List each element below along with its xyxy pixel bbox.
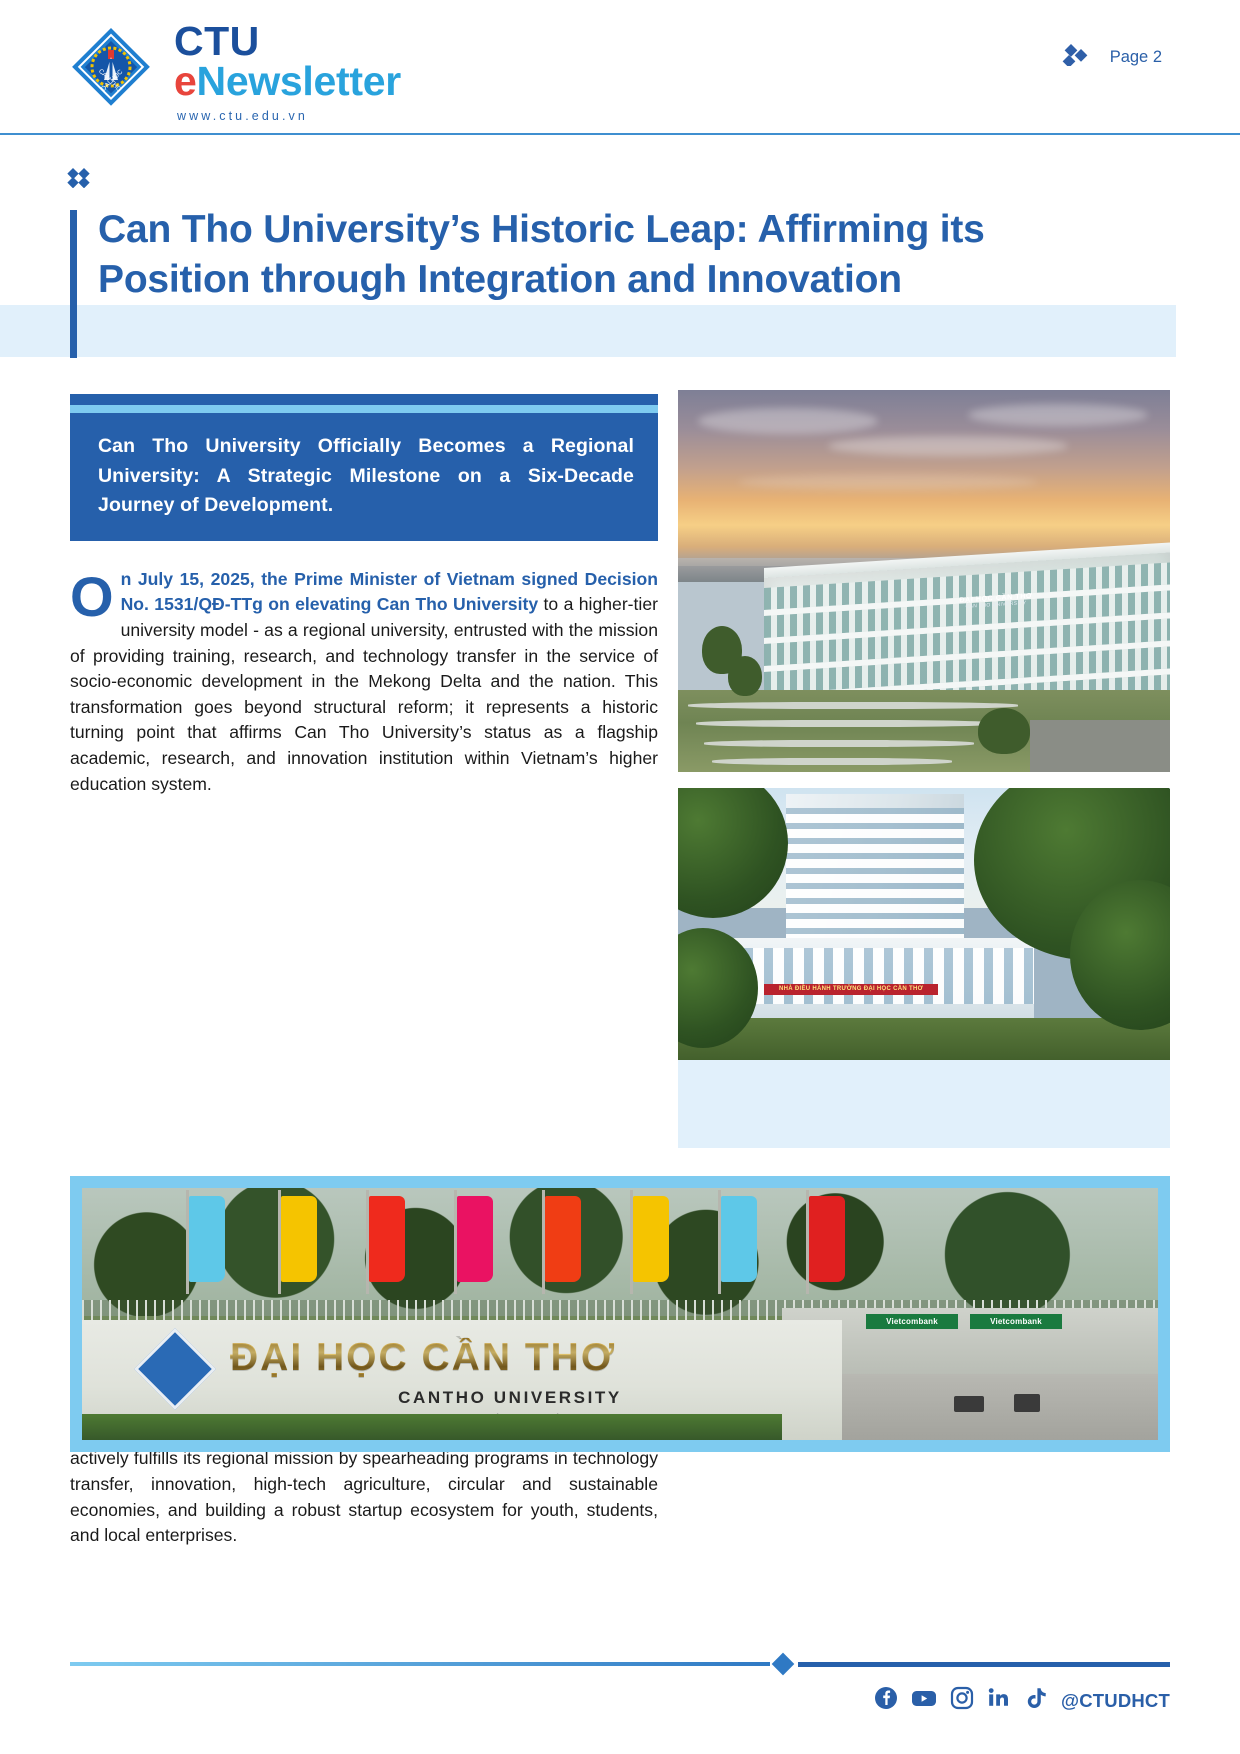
subheading-top-light-bar <box>70 405 658 413</box>
paragraph-1-rest: to a higher-tier university model - as a… <box>70 594 658 793</box>
flag <box>721 1196 757 1282</box>
entrance-sign-text: ĐẠI HỌC CẦN THƠ CANTHO UNIVERSITY KHU I … <box>230 1338 790 1425</box>
headline-highlight-band <box>0 305 1176 357</box>
subheading-text: Can Tho University Officially Becomes a … <box>98 432 634 521</box>
social-links: @CTUDHCT <box>874 1686 1170 1715</box>
vietcombank-sign-2: Vietcombank <box>970 1314 1062 1329</box>
page-number-label: Page 2 <box>1110 48 1162 67</box>
newsletter-page: DAI HOC CAN THO CTU eNewsletter www.ctu.… <box>0 0 1240 1754</box>
cloud <box>738 474 1038 490</box>
subheading-box: Can Tho University Officially Becomes a … <box>70 394 658 541</box>
parking-area <box>1030 720 1170 772</box>
subheading-body: Can Tho University Officially Becomes a … <box>70 413 658 541</box>
entrance-photo-frame: Vietcombank Vietcombank ĐẠI HỌC CẦN THƠ … <box>70 1176 1170 1452</box>
subheading-top-dark-bar <box>70 394 658 405</box>
dropcap-o: O <box>70 569 121 620</box>
cloud <box>698 408 878 434</box>
flag <box>189 1196 225 1282</box>
logo-wordmark: CTU eNewsletter www.ctu.edu.vn <box>174 22 401 123</box>
article-paragraph-1: On July 15, 2025, the Prime Minister of … <box>70 567 658 797</box>
sign-vietnamese: ĐẠI HỌC CẦN THƠ <box>230 1338 790 1379</box>
footer-divider-right <box>798 1662 1170 1667</box>
sign-english: CANTHO UNIVERSITY <box>230 1388 790 1408</box>
vietcombank-sign: Vietcombank <box>866 1314 958 1329</box>
headline-block: Can Tho University’s Historic Leap: Affi… <box>70 205 1060 305</box>
footer-divider-left <box>70 1662 770 1666</box>
logo-newsletter-text: Newsletter <box>197 58 401 104</box>
campus-building-trees-photo: NHÀ ĐIỀU HÀNH TRƯỜNG ĐẠI HỌC CẦN THƠ <box>678 788 1170 1060</box>
walkway <box>688 702 1018 709</box>
flag <box>633 1196 669 1282</box>
diamond-cluster-icon <box>1062 44 1088 71</box>
flag <box>809 1196 845 1282</box>
university-entrance-gate-photo: Vietcombank Vietcombank ĐẠI HỌC CẦN THƠ … <box>82 1188 1158 1440</box>
flag <box>457 1196 493 1282</box>
double-chevron-icon <box>66 166 100 193</box>
page-title: Can Tho University’s Historic Leap: Affi… <box>98 205 1060 305</box>
building-banner: NHÀ ĐIỀU HÀNH TRƯỜNG ĐẠI HỌC CẦN THƠ <box>764 984 938 995</box>
headline-accent-bar <box>70 210 77 358</box>
facebook-icon[interactable] <box>874 1686 898 1715</box>
article-left-column: Can Tho University Officially Becomes a … <box>70 394 658 797</box>
page-header: DAI HOC CAN THO CTU eNewsletter www.ctu.… <box>0 0 1240 146</box>
social-handle: @CTUDHCT <box>1061 1690 1170 1712</box>
aerial-campus-sunset-photo: ĐẠI HỌC CẦN THƠ CAN THO UNIVERSITY <box>678 390 1170 772</box>
ctu-enewsletter-logo: DAI HOC CAN THO CTU eNewsletter www.ctu.… <box>70 22 401 123</box>
flag <box>545 1196 581 1282</box>
background-trees <box>82 1188 1158 1316</box>
linkedin-icon[interactable] <box>987 1686 1011 1715</box>
logo-ctu-text: CTU <box>174 22 401 61</box>
page-indicator: Page 2 <box>1062 44 1162 71</box>
walkway <box>696 720 996 727</box>
tree <box>978 708 1030 754</box>
motorbike <box>954 1396 984 1412</box>
walkway <box>704 740 974 747</box>
tiktok-icon[interactable] <box>1024 1686 1046 1715</box>
motorbike <box>1014 1394 1040 1412</box>
tree <box>728 656 762 696</box>
ctu-emblem-icon: DAI HOC CAN THO <box>70 26 152 108</box>
cloud <box>828 436 1068 456</box>
flag <box>369 1196 405 1282</box>
walkway <box>712 758 952 765</box>
logo-e-letter: e <box>174 58 197 104</box>
photo-bottom-pale-panel <box>678 1060 1170 1148</box>
logo-website-url: www.ctu.edu.vn <box>177 109 401 123</box>
footer-diamond-icon <box>772 1653 795 1676</box>
flag <box>281 1196 317 1282</box>
hedge <box>82 1414 782 1440</box>
instagram-icon[interactable] <box>950 1686 974 1715</box>
cloud <box>968 404 1148 426</box>
youtube-icon[interactable] <box>911 1686 937 1715</box>
lawn <box>678 1018 1170 1060</box>
logo-enewsletter-text: eNewsletter <box>174 61 401 102</box>
header-divider <box>0 133 1240 135</box>
